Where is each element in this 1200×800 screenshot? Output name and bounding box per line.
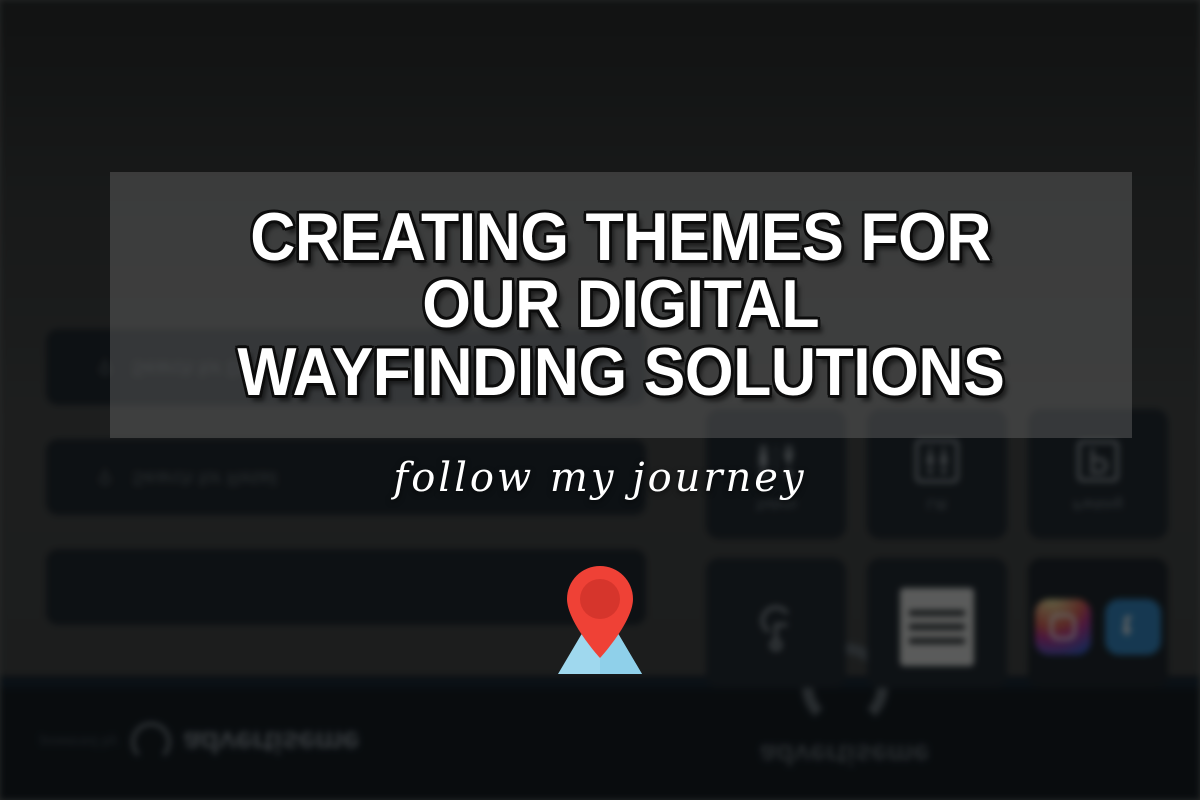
poster-canvas: powered by advertiseme advertiseme ⚲ Sea…	[0, 0, 1200, 800]
subtitle-text: follow my journey	[0, 455, 1200, 501]
headline-line-3: WAYFINDING SOLUTIONS	[237, 339, 1004, 406]
map-pin-icon	[540, 556, 660, 684]
headline-line-2: OUR DIGITAL	[423, 271, 820, 338]
headline-line-1: CREATING THEMES FOR	[251, 204, 992, 271]
headline-banner: CREATING THEMES FOR OUR DIGITAL WAYFINDI…	[110, 172, 1132, 438]
